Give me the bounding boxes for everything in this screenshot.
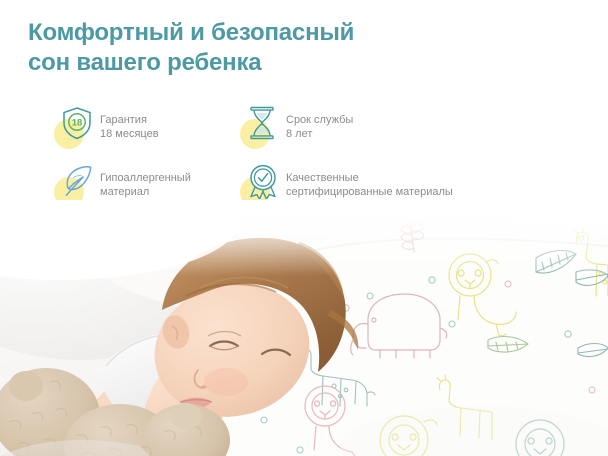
shield-18-icon: 18 — [54, 104, 98, 150]
feature-label: Гарантия 18 месяцев — [100, 113, 159, 141]
shield-badge-number: 18 — [72, 118, 83, 129]
feature-item-guarantee: 18 Гарантия 18 месяцев — [54, 104, 159, 150]
feature-label: Качественные сертифицированные материалы — [286, 171, 453, 199]
feature-label: Гипоаллергенный материал — [100, 171, 191, 199]
hourglass-icon — [240, 104, 284, 150]
hero-photo — [0, 200, 608, 456]
feature-row: 18 Гарантия 18 месяцев — [54, 104, 554, 162]
promo-banner: Комфортный и безопасный сон вашего ребен… — [0, 0, 608, 456]
feature-label: Срок службы 8 лет — [286, 113, 353, 141]
feature-item-service-life: Срок службы 8 лет — [240, 104, 353, 150]
page-title: Комфортный и безопасный сон вашего ребен… — [28, 18, 488, 78]
